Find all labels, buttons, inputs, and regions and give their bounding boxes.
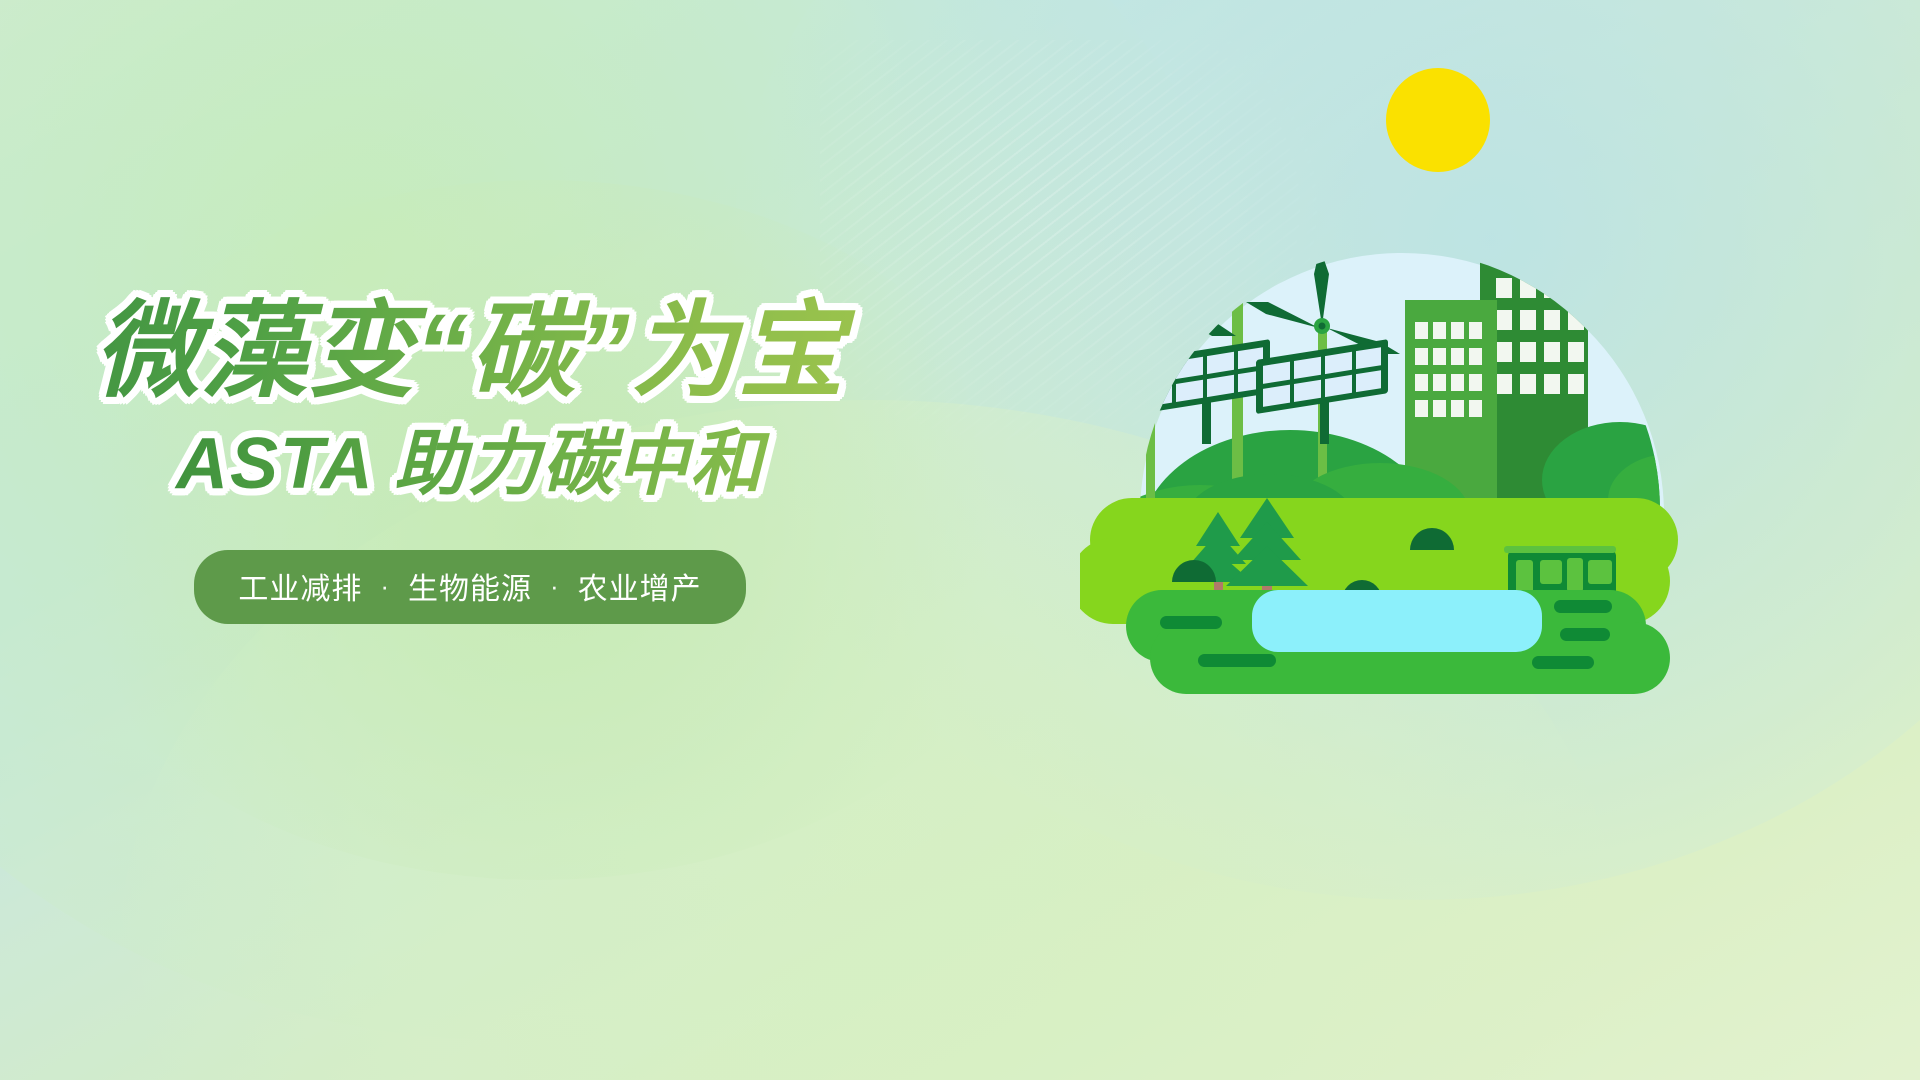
headline-block: 微藻变“碳”为宝 ASTA 助力碳中和 工业减排 · 生物能源 · 农业增产 xyxy=(0,296,940,624)
eco-banner: 微藻变“碳”为宝 ASTA 助力碳中和 工业减排 · 生物能源 · 农业增产 xyxy=(0,0,1920,1080)
sun-icon xyxy=(1386,68,1490,172)
tagline-item-bioenergy: 生物能源 xyxy=(408,564,532,608)
eco-city-illustration xyxy=(1080,60,1800,780)
tagline-row: 工业减排 · 生物能源 · 农业增产 xyxy=(0,550,940,624)
tagline-pill: 工业减排 · 生物能源 · 农业增产 xyxy=(194,550,745,624)
lake xyxy=(1252,590,1542,652)
tagline-separator-icon: · xyxy=(380,573,390,599)
page-subtitle: ASTA 助力碳中和 xyxy=(0,421,940,507)
page-title: 微藻变“碳”为宝 xyxy=(0,296,940,407)
tagline-item-agriculture: 农业增产 xyxy=(578,564,702,608)
tagline-item-industrial: 工业减排 xyxy=(238,564,362,608)
tagline-separator-icon: · xyxy=(550,573,560,599)
